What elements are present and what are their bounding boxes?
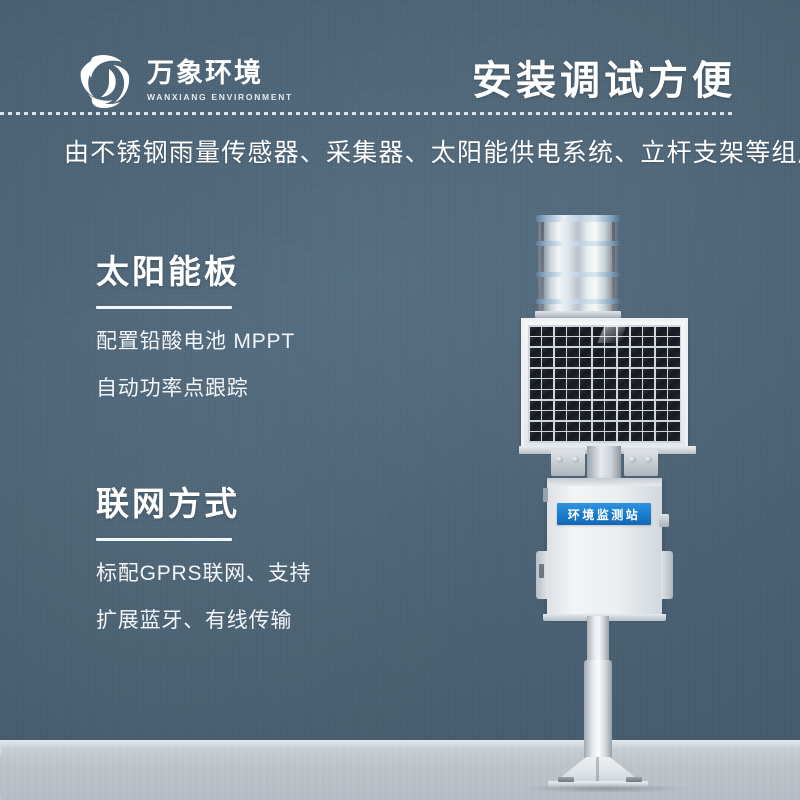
feature-line: 配置铅酸电池 MPPT (96, 331, 295, 352)
feature-title: 联网方式 (96, 487, 311, 520)
brand-name-en: WANXIANG ENVIRONMENT (147, 92, 293, 102)
feature-line: 标配GPRS联网、支持 (96, 563, 311, 584)
feature-title: 太阳能板 (96, 255, 295, 288)
feature-line: 扩展蓝牙、有线传输 (96, 610, 311, 631)
header-dotted-divider (0, 112, 732, 115)
brand-text: 万象环境 WANXIANG ENVIRONMENT (147, 58, 293, 102)
wanxiang-circular-swirl-logo-icon (72, 47, 138, 113)
brand-name-cn: 万象环境 (147, 58, 293, 89)
brand-logo: 万象环境 WANXIANG ENVIRONMENT (72, 47, 293, 113)
feature-block-network: 联网方式 标配GPRS联网、支持 扩展蓝牙、有线传输 (96, 487, 311, 631)
page-subtitle: 由不锈钢雨量传感器、采集器、太阳能供电系统、立杆支架等组成 (64, 133, 800, 169)
feature-divider (96, 306, 232, 309)
floor (0, 748, 800, 800)
feature-line: 自动功率点跟踪 (96, 378, 295, 399)
feature-block-solar-panel: 太阳能板 配置铅酸电池 MPPT 自动功率点跟踪 (96, 255, 295, 399)
page-headline: 安装调试方便 (472, 48, 736, 106)
header: 万象环境 WANXIANG ENVIRONMENT 安装调试方便 (0, 0, 800, 118)
feature-divider (96, 538, 232, 541)
